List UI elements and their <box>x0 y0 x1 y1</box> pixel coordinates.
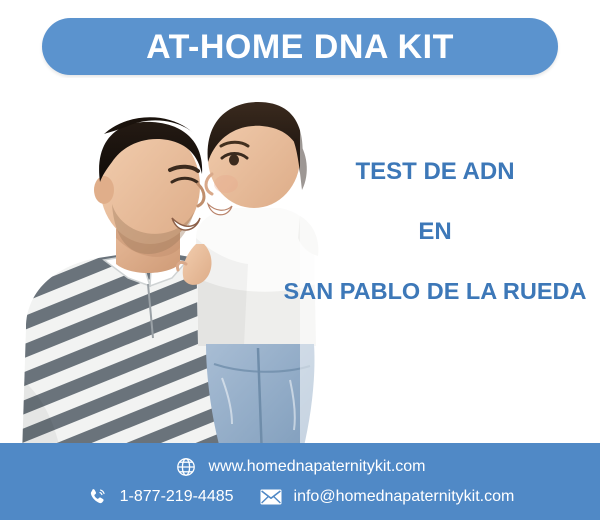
footer-row-phone-email: 1-877-219-4485 info@homednapaternitykit.… <box>86 486 515 508</box>
header-banner: AT-HOME DNA KIT <box>42 18 558 75</box>
email-text: info@homednapaternitykit.com <box>294 489 515 505</box>
website-contact-item[interactable]: www.homednapaternitykit.com <box>175 456 426 478</box>
footer-contact-bar: www.homednapaternitykit.com 1-877-219-44… <box>0 443 600 520</box>
headline-block: TEST DE ADN EN SAN PABLO DE LA RUEDA <box>275 160 595 304</box>
website-text: www.homednapaternitykit.com <box>209 459 426 475</box>
email-contact-item[interactable]: info@homednapaternitykit.com <box>260 486 515 508</box>
page-title: AT-HOME DNA KIT <box>146 30 454 64</box>
phone-text: 1-877-219-4485 <box>120 489 234 505</box>
poster-canvas: AT-HOME DNA KIT <box>0 0 600 520</box>
headline-line-1: TEST DE ADN <box>275 160 595 184</box>
phone-contact-item[interactable]: 1-877-219-4485 <box>86 486 234 508</box>
globe-icon <box>175 456 197 478</box>
headline-line-3: SAN PABLO DE LA RUEDA <box>275 280 595 304</box>
envelope-icon <box>260 486 282 508</box>
headline-line-2: EN <box>275 220 595 244</box>
footer-row-website: www.homednapaternitykit.com <box>175 456 426 478</box>
phone-icon <box>86 486 108 508</box>
